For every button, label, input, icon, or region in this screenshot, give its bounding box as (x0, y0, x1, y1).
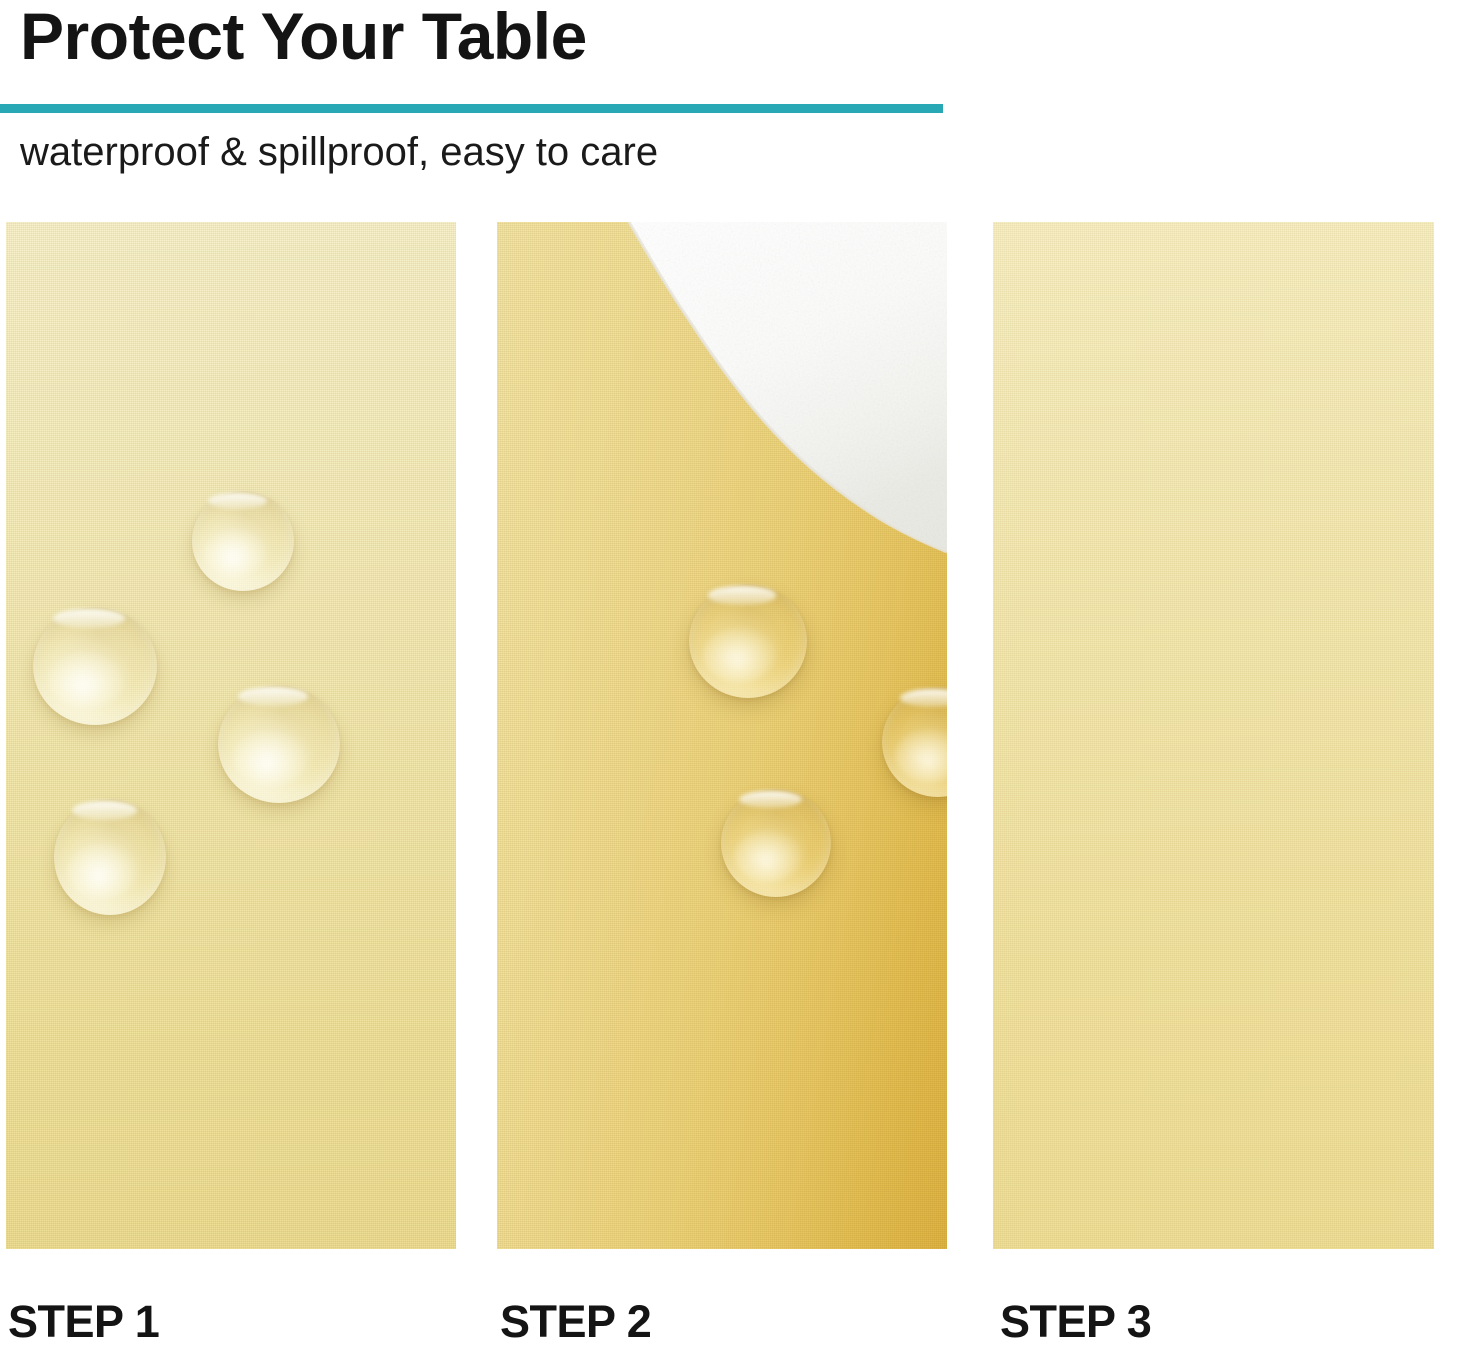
panel-step-1-image (6, 222, 456, 1249)
feature-panel-row (0, 222, 1458, 1249)
header-block: Protect Your Table waterproof & spillpro… (0, 0, 1458, 200)
panel-step-2-image (497, 222, 947, 1249)
water-droplet (33, 607, 157, 725)
step-caption-row: STEP 1 STEP 2 STEP 3 (0, 1296, 1458, 1363)
water-droplet (721, 789, 831, 897)
water-droplet (689, 584, 807, 698)
fabric-weave-texture (497, 222, 947, 1249)
page-subtitle: waterproof & spillproof, easy to care (20, 130, 658, 174)
panel-step-3-image (993, 222, 1434, 1249)
water-droplet (218, 685, 340, 803)
step-label-2: STEP 2 (500, 1296, 651, 1348)
water-droplet (54, 799, 166, 915)
step-label-3: STEP 3 (1000, 1296, 1151, 1348)
title-divider-rule (0, 104, 943, 113)
fabric-weave-texture (993, 222, 1434, 1249)
water-droplet (192, 491, 294, 591)
page-title: Protect Your Table (20, 2, 587, 71)
step-label-1: STEP 1 (8, 1296, 159, 1348)
